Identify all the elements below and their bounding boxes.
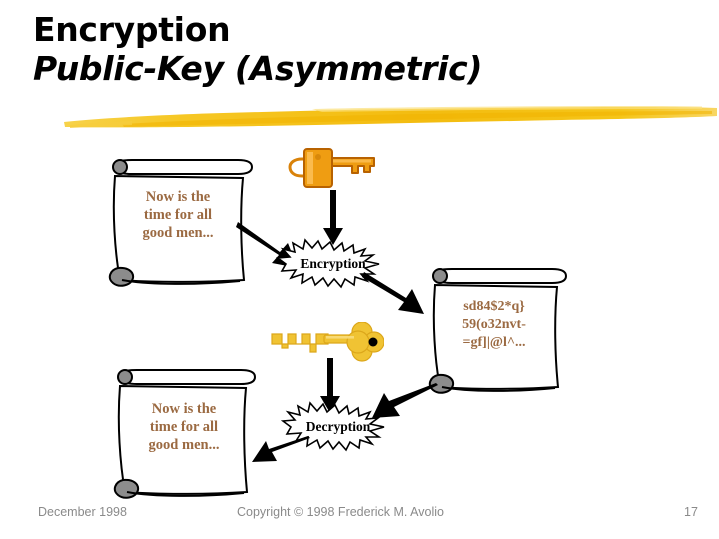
public-key-icon bbox=[286, 145, 384, 193]
page-title: Encryption Public-Key (Asymmetric) bbox=[33, 10, 693, 89]
title-line-primary: Encryption bbox=[33, 10, 693, 49]
title-line-secondary: Public-Key (Asymmetric) bbox=[33, 49, 693, 89]
brush-stroke-divider bbox=[62, 99, 719, 135]
footer-copyright: Copyright © 1998 Frederick M. Avolio bbox=[237, 505, 444, 519]
slide-canvas: Encryption Public-Key (Asymmetric) Now i… bbox=[0, 0, 719, 539]
plaintext-scroll-top-text: Now is the time for all good men... bbox=[116, 188, 240, 242]
footer-page-number: 17 bbox=[684, 505, 698, 519]
slide-footer: December 1998 Copyright © 1998 Frederick… bbox=[0, 505, 719, 527]
decryption-burst-label: Decryption bbox=[281, 419, 395, 435]
ciphertext-scroll-text: sd84$2*q} 59(o32nvt- =gf]|@l^... bbox=[430, 298, 558, 352]
arrow-decryption-to-plaintext bbox=[250, 436, 312, 472]
footer-date: December 1998 bbox=[38, 505, 127, 519]
plaintext-scroll-bottom-text: Now is the time for all good men... bbox=[122, 400, 246, 454]
